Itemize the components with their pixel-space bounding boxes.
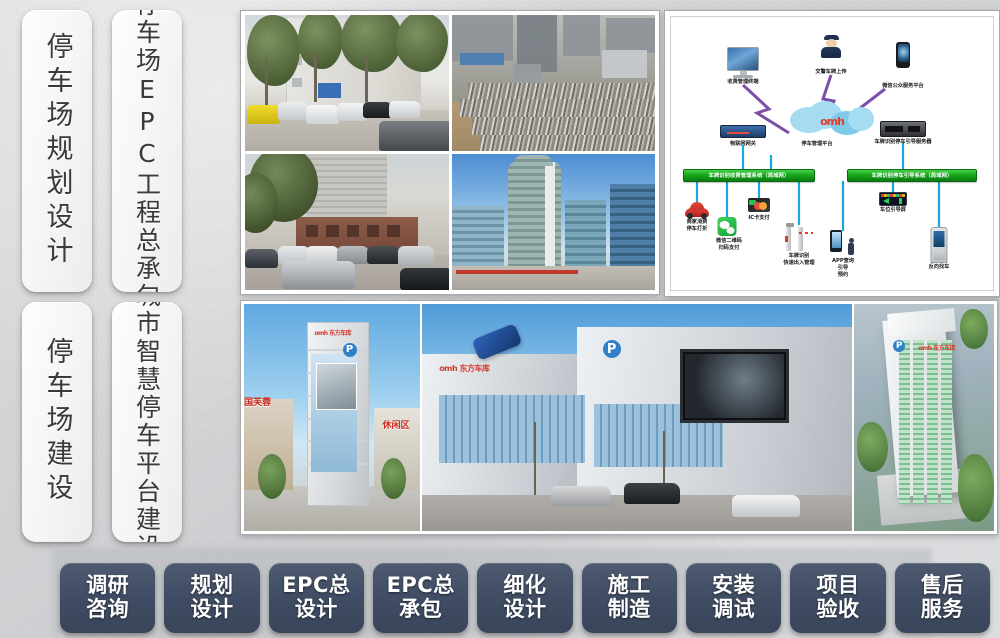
step-line2: 设计	[503, 598, 546, 622]
router-icon	[720, 125, 766, 138]
step-line2: 调试	[712, 598, 755, 622]
omh-brand-logo: omh 东方车库	[918, 343, 955, 352]
gateway-label: 物联网网关	[730, 141, 756, 148]
parking-guide-system-bar: 车牌识别停车引导系统（局域网）	[847, 169, 977, 182]
category-pill-label: 停车场EPC工程总承包	[135, 10, 160, 292]
cloud-platform-icon: omh	[786, 101, 878, 137]
app-phone-icon	[830, 230, 856, 256]
step-button-manufacturing[interactable]: 施工 制造	[582, 563, 677, 633]
barrier-gate-icon	[784, 223, 814, 251]
wechat-platform-label: 微信公众服务平台	[882, 83, 924, 90]
monitor-icon	[727, 47, 759, 78]
step-line1: 售后	[921, 574, 964, 598]
step-line2: 设计	[190, 598, 233, 622]
step-line1: 施工	[608, 574, 651, 598]
led-sign-icon	[879, 192, 907, 206]
wechat-icon	[718, 217, 737, 236]
step-button-epc-design[interactable]: EPC总 设计	[269, 563, 364, 633]
category-pill-label: 停车场规划设计	[44, 32, 71, 270]
category-pill-epc-contracting[interactable]: 停车场EPC工程总承包	[112, 10, 182, 292]
system-architecture-diagram: 收费管理终端 交警车牌上传 微信公众服务平台 物联网网关 车牌识别停车引导服务器	[664, 10, 1000, 297]
step-line2: 咨询	[86, 598, 129, 622]
step-line2: 承包	[399, 598, 442, 622]
monitor-label: 收费管理终端	[727, 79, 758, 86]
reverse-find-car-label: 反向找车	[929, 264, 950, 271]
parking-p-mark: P	[603, 340, 621, 358]
step-line1: 规划	[190, 574, 233, 598]
photo-lot-brick-building	[245, 154, 449, 290]
step-line1: 调研	[86, 574, 129, 598]
render-image-strip: 国芙蓉 休闲区 P omh 东方车库 P omh 东方车库	[240, 300, 998, 535]
step-line1: EPC总	[387, 574, 455, 598]
step-line1: 安装	[712, 574, 755, 598]
render-parking-tower: 国芙蓉 休闲区 P omh 东方车库	[244, 304, 420, 531]
server-icon	[880, 121, 926, 137]
photo-office-towers	[452, 154, 656, 290]
space-guide-screen-label: 车位引导屏	[880, 207, 906, 214]
render-aerial-tower: P omh 东方车库	[854, 304, 994, 531]
guide-server-label: 车牌识别停车引导服务器	[874, 139, 931, 146]
cloud-platform-label: 停车管理平台	[801, 141, 832, 148]
step-line2: 制造	[608, 598, 651, 622]
omh-logo: omh	[820, 115, 844, 128]
step-line1: EPC总	[282, 574, 350, 598]
smartphone-icon	[896, 42, 910, 68]
omh-brand-logo: omh 东方车库	[439, 363, 489, 374]
step-button-acceptance[interactable]: 项目 验收	[790, 563, 885, 633]
step-line2: 验收	[816, 598, 859, 622]
ic-card-pay-label: IC卡支付	[748, 215, 769, 222]
step-button-survey[interactable]: 调研 咨询	[60, 563, 155, 633]
police-upload-label: 交警车牌上传	[815, 69, 846, 76]
photo-aerial-parking-lot	[452, 15, 656, 151]
category-pill-label: 停车场建设	[44, 337, 71, 507]
step-button-installation[interactable]: 安装 调试	[686, 563, 781, 633]
render-sign-leisure: 休闲区	[382, 418, 409, 431]
step-line1: 项目	[816, 574, 859, 598]
wechat-qr-pay-label: 微信二维码扫码支付	[706, 238, 752, 252]
category-pill-label: 城市智慧停车平台建设	[135, 302, 160, 542]
merchant-discount-label: 商家消费停车打折	[674, 219, 720, 233]
step-button-detail-design[interactable]: 细化 设计	[477, 563, 572, 633]
omh-brand-logo: omh 东方车库	[314, 328, 351, 337]
category-pill-smart-platform[interactable]: 城市智慧停车平台建设	[112, 302, 182, 542]
step-button-epc-contract[interactable]: EPC总 承包	[373, 563, 468, 633]
parking-p-mark: P	[343, 343, 357, 357]
fee-system-label: 车牌识别收费管理系统（局域网）	[709, 172, 790, 179]
step-button-after-sales[interactable]: 售后 服务	[895, 563, 990, 633]
plate-gate-label: 车牌识别快速出入管理	[772, 253, 826, 267]
red-car-icon	[685, 202, 709, 217]
photo-street-parking	[245, 15, 449, 151]
step-line2: 服务	[921, 598, 964, 622]
photo-grid	[240, 10, 660, 295]
step-line2: 设计	[295, 598, 338, 622]
kiosk-icon	[931, 227, 948, 263]
step-button-planning[interactable]: 规划 设计	[164, 563, 259, 633]
render-sign-guofurong: 国芙蓉	[244, 395, 271, 408]
render-smart-garage: P omh 东方车库	[422, 304, 852, 531]
step-line1: 细化	[503, 574, 546, 598]
process-step-row: 调研 咨询 规划 设计 EPC总 设计 EPC总 承包 细化 设计 施工 制造 …	[60, 560, 990, 636]
category-pill-parking-construction[interactable]: 停车场建设	[22, 302, 92, 542]
guide-system-label: 车牌识别停车引导系统（局域网）	[872, 172, 953, 179]
policeman-icon	[820, 35, 842, 58]
fee-management-system-bar: 车牌识别收费管理系统（局域网）	[683, 169, 815, 182]
category-pill-parking-planning[interactable]: 停车场规划设计	[22, 10, 92, 292]
app-query-label: APP查询引导预约	[820, 258, 866, 279]
ic-card-icon	[748, 198, 770, 212]
